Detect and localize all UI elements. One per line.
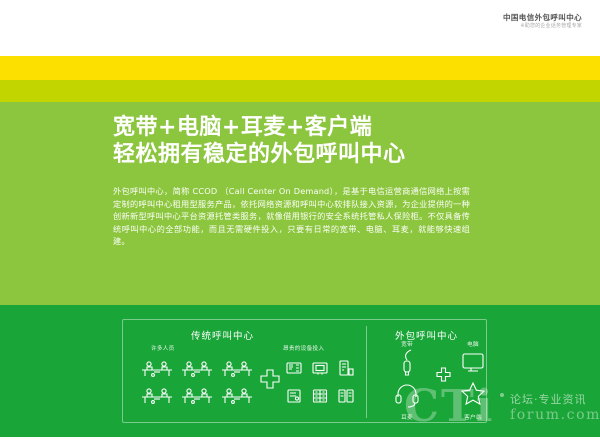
recorder-icon <box>281 382 307 410</box>
headline-line-2: 轻松拥有稳定的外包呼叫中心 <box>113 141 533 168</box>
agent-desk-icon <box>217 383 257 410</box>
agent-desk-icon <box>137 356 177 383</box>
brand-subtitle: ※助您的企业话务管理专家 <box>503 23 582 29</box>
outsourced-label-client: 客户端 <box>446 413 500 421</box>
poster-header: 中国电信外包呼叫中心 ※助您的企业话务管理专家 <box>0 0 600 56</box>
outsourced-item-headset: 耳麦 <box>380 380 434 421</box>
color-band-yellow-green <box>0 80 600 102</box>
traditional-equipment-grid <box>281 354 359 410</box>
brand-name: 中国电信外包呼叫中心 <box>503 13 582 22</box>
outsourced-item-client: 客户端 <box>446 380 500 421</box>
hero-headline: 宽带+电脑+耳麦+客户端 轻松拥有稳定的外包呼叫中心 <box>113 114 533 168</box>
client-star-icon <box>446 380 500 414</box>
server-rack-icon <box>333 354 359 382</box>
broadband-modem-icon <box>380 348 434 382</box>
agent-desk-icon <box>217 356 257 383</box>
comparison-panel: 传统呼叫中心 许多人员 昂贵的设备投入 <box>122 319 487 423</box>
agent-desk-icon <box>137 383 177 410</box>
traditional-agent-grid <box>137 356 257 410</box>
outsourced-label-headset: 耳麦 <box>380 413 434 421</box>
traditional-agents-label: 许多人员 <box>151 344 175 352</box>
panel-divider <box>366 326 367 418</box>
outsourced-label-broadband: 宽带 <box>380 340 434 348</box>
agent-desk-icon <box>177 356 217 383</box>
hero-body-text: 外包呼叫中心，简称 CCOD （Call Center On Demand），是… <box>113 185 470 248</box>
outsourced-item-computer: 电脑 <box>446 340 500 382</box>
traditional-equipment-label: 昂贵的设备投入 <box>283 344 324 352</box>
traditional-title: 传统呼叫中心 <box>191 328 254 342</box>
brand-block: 中国电信外包呼叫中心 ※助您的企业话务管理专家 <box>503 13 582 30</box>
footer-margin <box>0 437 600 442</box>
pbx-switch-icon <box>281 354 307 382</box>
traditional-plus-icon <box>260 369 280 389</box>
agent-desk-icon <box>177 383 217 410</box>
outsourced-label-computer: 电脑 <box>446 340 500 348</box>
ivr-board-icon <box>307 354 333 382</box>
headline-line-1: 宽带+电脑+耳麦+客户端 <box>113 114 533 141</box>
outsourced-plus-icon <box>436 367 451 382</box>
outsourced-item-broadband: 宽带 <box>380 340 434 382</box>
server-pair-icon <box>333 382 359 410</box>
headset-icon <box>380 380 434 414</box>
color-band-yellow <box>0 56 600 80</box>
computer-monitor-icon <box>446 348 500 382</box>
network-cabinet-icon <box>307 382 333 410</box>
poster-canvas: 中国电信外包呼叫中心 ※助您的企业话务管理专家 宽带+电脑+耳麦+客户端 轻松拥… <box>0 0 600 442</box>
